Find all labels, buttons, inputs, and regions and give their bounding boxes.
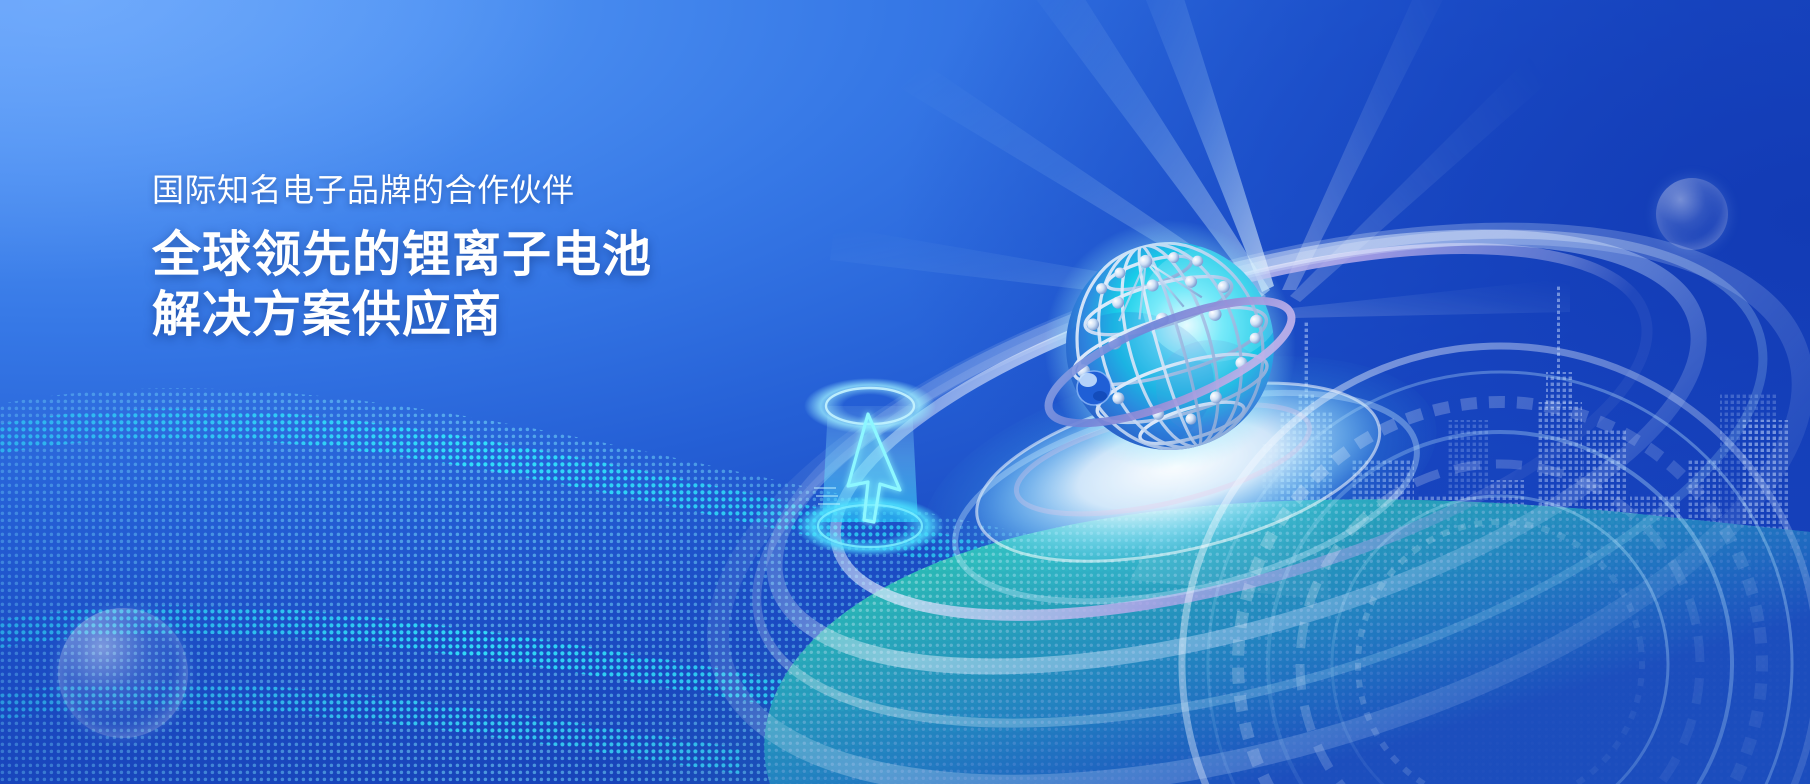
light-beam-column [780, 370, 960, 570]
banner-headline: 全球领先的锂离子电池 解决方案供应商 [152, 226, 872, 346]
banner-headline-line-1: 全球领先的锂离子电池 [152, 226, 872, 286]
banner-headline-line-2: 解决方案供应商 [152, 286, 872, 346]
hero-banner: 国际知名电子品牌的合作伙伴 全球领先的锂离子电池 解决方案供应商 [0, 0, 1810, 784]
concentric-tech-rings [1120, 334, 1810, 784]
banner-eyebrow: 国际知名电子品牌的合作伙伴 [152, 170, 872, 210]
banner-copy: 国际知名电子品牌的合作伙伴 全球领先的锂离子电池 解决方案供应商 [152, 170, 872, 346]
